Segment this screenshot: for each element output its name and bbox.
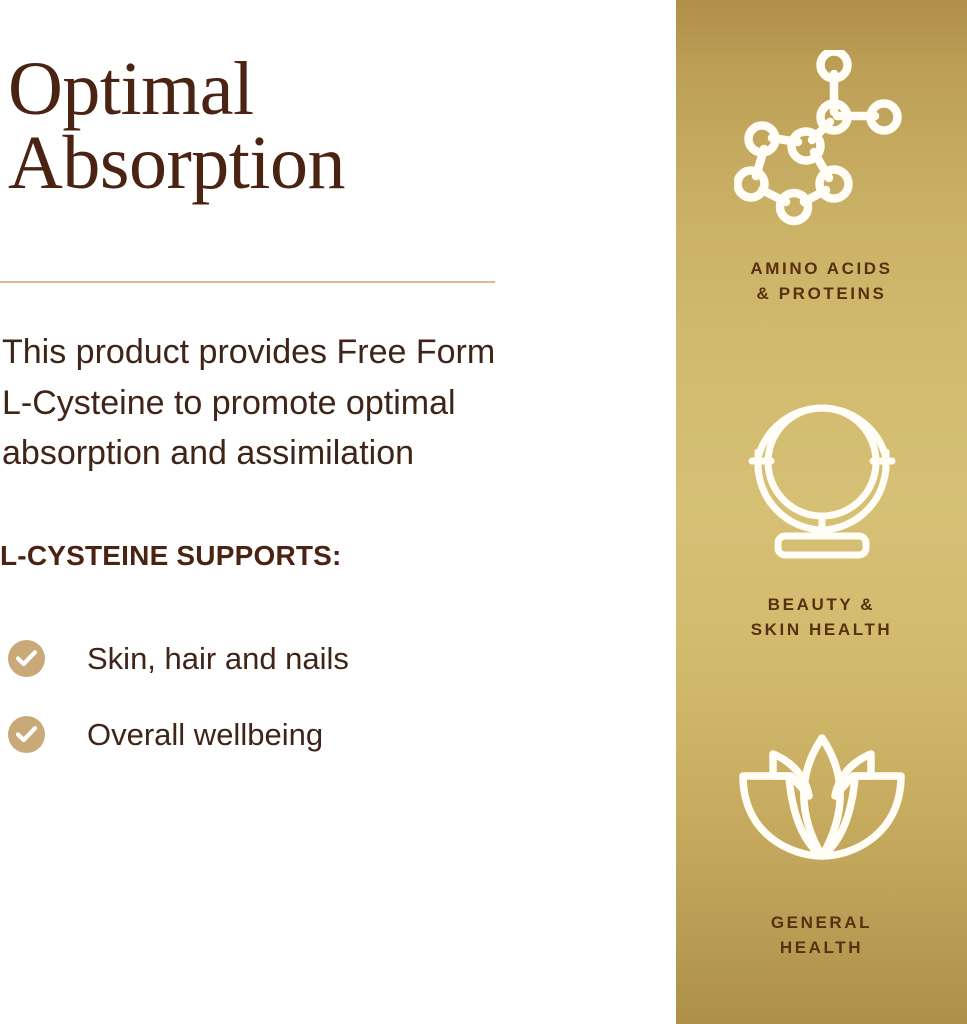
product-benefits-infographic: Optimal Absorption This product provides… (0, 0, 967, 1024)
benefits-gold-panel: AMINO ACIDS & PROTEINS (676, 0, 967, 1024)
benefit-label-beauty-skin: BEAUTY & SKIN HEALTH (676, 593, 967, 642)
benefit-label-general-health: GENERAL HEALTH (676, 911, 967, 960)
left-content-column: Optimal Absorption This product provides… (0, 0, 676, 1024)
page-title: Optimal Absorption (8, 52, 608, 201)
list-item: Skin, hair and nails (0, 620, 600, 696)
title-divider-rule (0, 281, 495, 283)
benefit-label-amino-acids: AMINO ACIDS & PROTEINS (676, 257, 967, 306)
benefit-item-amino-acids: AMINO ACIDS & PROTEINS (676, 50, 967, 306)
benefit-label-line-1: GENERAL (676, 911, 967, 936)
supports-heading: L-CYSTEINE SUPPORTS: (0, 540, 342, 572)
lotus-flower-icon (676, 730, 967, 875)
list-item: Overall wellbeing (0, 696, 600, 772)
page-title-line-2: Absorption (8, 126, 608, 200)
body-description: This product provides Free Form L-Cystei… (2, 327, 642, 479)
vanity-mirror-icon (676, 384, 967, 565)
body-description-line-3: absorption and assimilation (2, 428, 642, 479)
supports-list: Skin, hair and nails Overall wellbeing (0, 620, 600, 772)
benefit-label-line-2: SKIN HEALTH (676, 618, 967, 643)
check-icon (8, 716, 45, 753)
body-description-line-2: L-Cysteine to promote optimal (2, 378, 642, 429)
benefit-item-general-health: GENERAL HEALTH (676, 730, 967, 960)
body-description-line-1: This product provides Free Form (2, 327, 642, 378)
list-item-label: Skin, hair and nails (87, 643, 349, 674)
benefit-label-line-2: & PROTEINS (676, 282, 967, 307)
check-icon (8, 640, 45, 677)
benefit-label-line-2: HEALTH (676, 936, 967, 961)
molecule-icon (676, 50, 967, 231)
benefit-item-beauty-skin: BEAUTY & SKIN HEALTH (676, 384, 967, 642)
benefit-label-line-1: BEAUTY & (676, 593, 967, 618)
list-item-label: Overall wellbeing (87, 719, 323, 750)
page-title-line-1: Optimal (8, 52, 608, 126)
benefit-label-line-1: AMINO ACIDS (676, 257, 967, 282)
